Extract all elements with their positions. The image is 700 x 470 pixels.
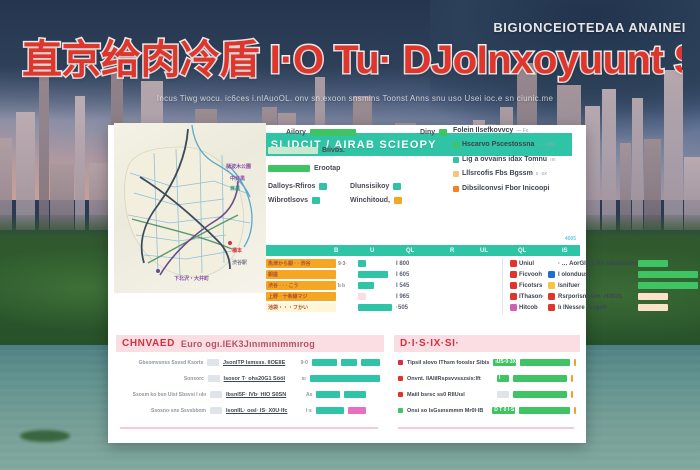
row-secondary-badge [548, 304, 555, 311]
skyline-tower [585, 106, 600, 230]
legend-label: Winchitoud, [350, 197, 390, 204]
card-row-block [210, 407, 222, 414]
map-node [228, 241, 232, 245]
table-header-row: BUQLRULQLIS [266, 245, 580, 256]
card-left-header: CHNVAED Euro ogı.IEK3Jınımınımmırog [116, 335, 384, 352]
legend-row[interactable]: Blivbs. [268, 147, 345, 154]
bullet-icon [398, 392, 403, 397]
row-status-badge [510, 260, 517, 267]
legend-row[interactable]: Winchitoud, [350, 197, 402, 204]
table-row[interactable]: HitcobIı lNessre Bsgoh· [510, 302, 580, 313]
feature-list-meta: ıııı [550, 157, 556, 163]
map-label: 樋波木公園 [226, 163, 251, 170]
card-row-code: 9·0 [301, 360, 308, 366]
row-label: Uniul [519, 261, 534, 267]
card-row-label: Sonsorc [120, 376, 204, 382]
card-row-bar [312, 359, 337, 366]
feature-list-item[interactable]: Lllsrcofis Fbs Bgssmıı ·ox [453, 170, 547, 177]
row-progress-bar [638, 282, 698, 289]
feature-list-meta: • …ısIlo [537, 142, 554, 148]
legend-row[interactable]: Ailory [286, 129, 356, 136]
status-dot [453, 186, 459, 192]
table-cell-value: I 965 [396, 294, 409, 300]
bullet-icon [398, 360, 403, 365]
row-secondary-badge [548, 293, 555, 300]
legend-row[interactable]: Wibrotlsovs [268, 197, 320, 204]
card-row-label: Onvnt. IIAIiIRspsvvsszsis:Ift [407, 376, 493, 382]
row-label: Ficvooh [519, 272, 542, 278]
table-column-header[interactable]: UL [480, 248, 488, 254]
table-progress-bar [358, 293, 366, 300]
card-right-title: D·I·S·IX·SI· [400, 338, 459, 349]
card-row-link[interactable]: Isosor T· ohs20G1 SööI [224, 376, 298, 382]
legend-bar [268, 165, 310, 172]
table-column-header[interactable]: B [334, 248, 338, 254]
table-cell-code: lı lı [338, 283, 345, 289]
card-row-tick [571, 391, 573, 398]
card-row-bar [310, 375, 380, 382]
feature-list-item[interactable]: Hscarvo Pscestossna• …ısIlo [453, 141, 555, 148]
row-secondary-label: Isnifuer [558, 283, 580, 289]
legend-bar [268, 147, 318, 154]
bullet-icon [398, 376, 403, 381]
legend-label: Diny [420, 129, 435, 136]
feature-list: Folein Ilsefkovvcy— Fıı.Hscarvo Pscestos… [453, 125, 585, 205]
table-row[interactable]: FicvoohI olonduuse [510, 269, 580, 280]
card-row-bar [520, 359, 570, 366]
card-row-block [208, 375, 220, 382]
row-status-badge [510, 271, 517, 278]
card-row-tick [574, 359, 576, 366]
route-network-map[interactable]: 樋波木公園中目黒目黒橋本渋谷駅下北沢・大井町 [114, 123, 266, 293]
table-row[interactable]: 銀座I 605 [266, 269, 502, 280]
table-row[interactable]: Uniul· … AorGIFIs Rir odoossons [510, 258, 580, 269]
map-label: 下北沢・大井町 [174, 275, 209, 282]
main-content-panel: D SLIDCIT / AIRAB SCIEOPY [108, 125, 586, 443]
legend-row[interactable]: Dalloys-Rfiros [268, 183, 327, 190]
legend-bar [439, 129, 447, 136]
table-divider [502, 258, 503, 314]
table-cell-highlight: 池袋・・・フかい [266, 303, 336, 312]
card-row-bar [316, 407, 344, 414]
table-progress-bar [358, 260, 366, 267]
poster-header: BIGIONCEIOTEDAA ANAINEI 直京给肉冷盾 I·O Tu· D… [0, 0, 700, 120]
legend-grid: AiloryDinyBlivbs.ErootapDalloys-RfirosWi… [268, 127, 448, 205]
table-cell-highlight: 魚津から銀 · · 渋谷 [266, 259, 336, 268]
card-row[interactable]: SonsorcIsosor T· ohs20G1 SööIsı [120, 375, 380, 382]
table-cell-highlight: 渋谷 · · · こう [266, 281, 336, 290]
table-note: 4005 [565, 236, 576, 242]
table-row[interactable]: 池袋・・・フかい·505 [266, 302, 502, 313]
card-row-link[interactable]: Ibsnl5F· lVb· HIO S0SN [226, 392, 302, 398]
card-row[interactable]: Maiil bsrsc ss0 RIIUısl [398, 391, 576, 398]
table-progress-bar [358, 304, 392, 311]
feature-list-item[interactable]: Lig a ovvains idax Tomnuıııı [453, 156, 556, 163]
card-row[interactable]: Onvnt. IIAIiIRspsvvsszsis:IftI [398, 375, 576, 382]
feature-list-label: Dibsilconvsi Fbor Inicoopi [462, 185, 550, 192]
row-progress-bar [638, 260, 668, 267]
card-left-rule [120, 427, 378, 429]
row-secondary-label: Rsrporisnnsim· H0IOS [558, 294, 622, 300]
card-row-bar [316, 391, 340, 398]
row-secondary-label: · … AorGIFIs Rir odoossons [558, 261, 638, 267]
card-row-bar [519, 407, 570, 414]
card-row-code: sı [302, 376, 306, 382]
card-row[interactable]: Tipsil sIovo IThsm fooslsr SibisıUS·0·3X [398, 359, 576, 366]
card-row-bar [341, 359, 357, 366]
table-cell-code: 9·3· [338, 261, 347, 267]
table-cell-value: I 545 [396, 283, 409, 289]
table-cell-highlight: 銀座 [266, 270, 336, 279]
legend-row[interactable]: Dlunsisikoy [350, 183, 401, 190]
card-row[interactable]: Ssosm ko bsn Uist Sbsvsi I ııIııIbsnl5F·… [120, 391, 380, 398]
card-row-label: Onsi so IsGsınsmmm Mr0I·IB [407, 408, 488, 414]
page-title: 直京给肉冷盾 I·O Tu· DJoInxoyuunt Sclokz [22, 36, 682, 84]
row-label: IThason· [519, 294, 544, 300]
card-row-bar [513, 391, 567, 398]
map-label: 橋本 [232, 247, 242, 254]
card-left-subtitle: Euro ogı.IEK3Jınımınımmırog [181, 339, 315, 349]
table-progress-bar [358, 282, 374, 289]
card-row-bar [361, 359, 380, 366]
status-dot [453, 157, 459, 163]
bullet-icon [398, 408, 403, 413]
card-row-chip: ıUS·0·3X [493, 359, 516, 366]
legend-label: Dlunsisikoy [350, 183, 389, 190]
legend-row[interactable]: Erootap [268, 165, 340, 172]
card-row-bar [344, 391, 366, 398]
card-row-link[interactable]: JsonlTP Ismsııs. IIOEIIE [223, 360, 297, 366]
row-secondary-badge [548, 282, 555, 289]
card-right-rule [398, 427, 574, 429]
table-row[interactable]: 渋谷 · · · こうlı lıI 545 [266, 280, 502, 291]
feature-list-label: Folein Ilsefkovvcy [453, 127, 513, 134]
card-row-bar [348, 407, 366, 414]
table-column-header[interactable]: U [370, 248, 374, 254]
page-subtitle: Incus Tiwg wocu. ic6ces i.nlAuoOL. onv s… [100, 94, 610, 103]
card-row-chip [497, 391, 509, 398]
row-progress-bar [638, 271, 698, 278]
card-row-label: Gbsomvsnss Ssvsd Ksorts [120, 360, 203, 366]
table-row[interactable]: FicotsrsIsnifuer [510, 280, 580, 291]
card-row-block [207, 359, 219, 366]
card-row-link[interactable]: IsonlIL· oısl· IS· X0U·Ifc [226, 408, 302, 414]
legend-bar [394, 197, 402, 204]
status-dot [453, 142, 459, 148]
card-row-label: Ssosm ko bsn Uist Sbsvsi I ııIıı [120, 392, 206, 398]
table-column-header[interactable]: QL [518, 248, 526, 254]
feature-list-item[interactable]: Dibsilconvsi Fbor Inicoopi [453, 185, 550, 192]
card-right-header: D·I·S·IX·SI· [394, 335, 580, 352]
table-cell-value: I 800 [396, 261, 409, 267]
card-left-title: CHNVAED [122, 338, 175, 349]
table-column-header[interactable]: QL [406, 248, 414, 254]
legend-label: Ailory [286, 129, 306, 136]
row-secondary-badge [548, 271, 555, 278]
row-status-badge [510, 304, 517, 311]
map-label: 渋谷駅 [232, 259, 247, 266]
table-row[interactable]: IThason·Rsrporisnnsim· H0IOS [510, 291, 580, 302]
legend-bar [393, 183, 401, 190]
row-status-badge [510, 293, 517, 300]
card-row-chip: I [497, 375, 509, 382]
feature-list-label: Hscarvo Pscestossna [462, 141, 534, 148]
card-row-bar [513, 375, 567, 382]
card-row-label: Maiil bsrsc ss0 RIIUısl [407, 392, 493, 398]
card-right: D·I·S·IX·SI· Tipsil sIovo IThsm fooslsr … [394, 335, 580, 435]
row-secondary-label: Iı lNessre Bsgoh· [558, 305, 609, 311]
table-column-header[interactable]: IS [562, 248, 568, 254]
card-row[interactable]: Onsi so IsGsınsmmm Mr0I·IBD T 0 I·S [398, 407, 576, 414]
legend-bar [312, 197, 320, 204]
row-progress-bar [638, 293, 668, 300]
legend-label: Wibrotlsovs [268, 197, 308, 204]
table-row[interactable]: 上野 · 十条線マジI 965 [266, 291, 502, 302]
card-row-label: Tipsil sIovo IThsm fooslsr Sibis [407, 360, 489, 366]
card-left: CHNVAED Euro ogı.IEK3Jınımınımmırog Gbso… [116, 335, 384, 435]
feature-list-meta: ıı ·ox [536, 171, 547, 177]
card-row[interactable]: Gbsomvsnss Ssvsd KsortsJsonlTP Ismsııs. … [120, 359, 380, 366]
status-dot [453, 171, 459, 177]
row-secondary-label: I olonduuse [558, 272, 592, 278]
table-cell-value: ·505 [396, 305, 408, 311]
row-label: Ficotsrs [519, 283, 542, 289]
row-progress-bar [638, 304, 668, 311]
card-row-label: Ssosno·sns Ssvsbbnm [120, 408, 206, 414]
table-row[interactable]: 魚津から銀 · · 渋谷9·3·I 800 [266, 258, 502, 269]
table-column-header[interactable]: R [450, 248, 454, 254]
legend-row[interactable]: Diny [420, 129, 447, 136]
map-label: 中目黒 [230, 175, 245, 182]
table-cell-value: I 605 [396, 272, 409, 278]
table-cell-highlight: 上野 · 十条線マジ [266, 292, 336, 301]
map-label: 目黒 [230, 185, 240, 192]
legend-label: Blivbs. [322, 147, 345, 154]
row-status-badge [510, 282, 517, 289]
header-corner-tag: BIGIONCEIOTEDAA ANAINEI [493, 20, 686, 35]
card-row-tick [571, 375, 573, 382]
card-row-code: I·s [306, 408, 312, 414]
islet [20, 430, 70, 442]
row-label: Hitcob [519, 305, 538, 311]
legend-bar [319, 183, 327, 190]
legend-label: Erootap [314, 165, 340, 172]
skyline-tower [16, 112, 35, 230]
feature-list-meta: — Fıı. [516, 128, 530, 134]
card-row-tick [574, 407, 576, 414]
feature-list-label: Lllsrcofis Fbs Bgssm [462, 170, 533, 177]
map-svg [114, 123, 266, 293]
map-node [156, 269, 160, 273]
card-row-block [210, 391, 222, 398]
card-row[interactable]: Ssosno·sns SsvsbbnmIsonlIL· oısl· IS· X0… [120, 407, 380, 414]
table-progress-bar [358, 271, 388, 278]
legend-label: Dalloys-Rfiros [268, 183, 315, 190]
feature-list-label: Lig a ovvains idax Tomnu [462, 156, 547, 163]
legend-bar [310, 129, 356, 136]
card-row-code: As [306, 392, 312, 398]
feature-list-item[interactable]: Folein Ilsefkovvcy— Fıı. [453, 127, 530, 134]
card-row-chip: D T 0 I·S [492, 407, 515, 414]
